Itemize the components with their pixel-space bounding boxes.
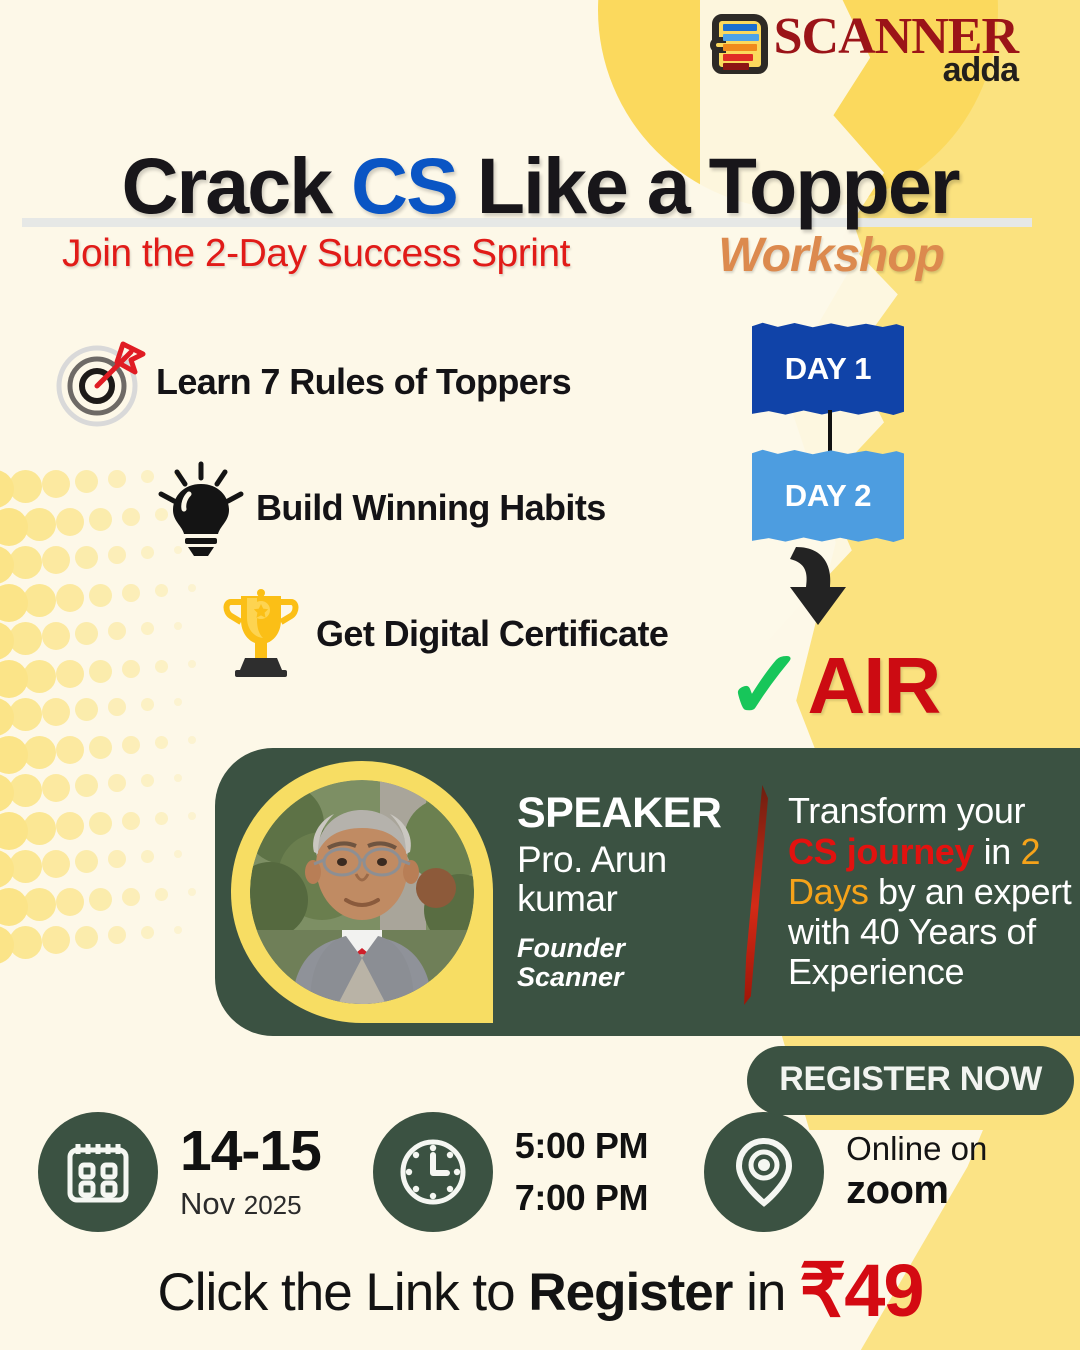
event-location: Online on zoom bbox=[846, 1131, 987, 1212]
green-check-icon: ✓ bbox=[725, 648, 805, 725]
cta-price: ₹49 bbox=[799, 1249, 922, 1332]
day-flow: DAY 1 DAY 2 bbox=[752, 328, 912, 634]
red-brush-divider bbox=[722, 777, 784, 1007]
pitch-text-2: in bbox=[974, 831, 1020, 872]
speaker-photo-frame bbox=[231, 761, 493, 1023]
page-title: Crack CS Like a Topper bbox=[0, 140, 1080, 232]
feature-item: Get Digital Certificate bbox=[206, 582, 736, 686]
cta-text-2: in bbox=[732, 1263, 799, 1322]
brand-logo: SCANNER adda bbox=[712, 14, 1018, 86]
day-1-badge: DAY 1 bbox=[752, 328, 904, 410]
feature-item: Learn 7 Rules of Toppers bbox=[46, 330, 736, 434]
clock-icon bbox=[373, 1112, 493, 1232]
feature-label: Build Winning Habits bbox=[256, 487, 606, 529]
speaker-name-line-2: kumar bbox=[517, 880, 722, 918]
event-date-month: Nov bbox=[180, 1186, 235, 1221]
feature-label: Learn 7 Rules of Toppers bbox=[156, 361, 571, 403]
subtitle: Join the 2-Day Success Sprint bbox=[62, 232, 570, 276]
event-date-year: 2025 bbox=[244, 1190, 302, 1220]
feature-list: Learn 7 Rules of Toppers Build Winning H… bbox=[46, 330, 736, 686]
event-info-row: 14-15 Nov 2025 5:00 PM 7:00 PM bbox=[38, 1112, 1058, 1232]
day-2-label: DAY 2 bbox=[785, 478, 871, 514]
cta-text-1: Click the Link to bbox=[157, 1263, 528, 1322]
workshop-label: Workshop bbox=[718, 228, 944, 283]
event-time-start: 5:00 PM bbox=[515, 1120, 648, 1172]
event-time-end: 7:00 PM bbox=[515, 1172, 648, 1224]
title-part-1: Crack bbox=[121, 141, 351, 230]
target-dart-icon bbox=[46, 334, 156, 430]
speaker-portrait bbox=[250, 780, 474, 1004]
feature-label: Get Digital Certificate bbox=[316, 613, 668, 655]
register-now-button[interactable]: REGISTER NOW bbox=[747, 1046, 1074, 1115]
title-highlight-cs: CS bbox=[351, 141, 457, 230]
speaker-info: SPEAKER Pro. Arun kumar Founder Scanner bbox=[517, 792, 722, 991]
feature-item: Build Winning Habits bbox=[146, 456, 736, 560]
speaker-pitch: Transform your CS journey in 2 Days by a… bbox=[788, 791, 1080, 993]
event-time: 5:00 PM 7:00 PM bbox=[515, 1120, 648, 1224]
cta-line[interactable]: Click the Link to Register in ₹49 bbox=[0, 1248, 1080, 1334]
speaker-heading: SPEAKER bbox=[517, 792, 722, 835]
speaker-role-line-1: Founder bbox=[517, 934, 722, 963]
curved-down-arrow-icon bbox=[760, 543, 912, 634]
speaker-card: SPEAKER Pro. Arun kumar Founder Scanner … bbox=[215, 748, 1080, 1036]
air-label: AIR bbox=[807, 640, 939, 732]
cta-register-word: Register bbox=[528, 1263, 732, 1322]
location-pin-icon bbox=[704, 1112, 824, 1232]
day-1-label: DAY 1 bbox=[785, 351, 871, 387]
speaker-name-line-1: Pro. Arun bbox=[517, 841, 722, 879]
pitch-text-1: Transform your bbox=[788, 790, 1025, 831]
event-date: 14-15 Nov 2025 bbox=[180, 1123, 321, 1222]
scanner-document-icon bbox=[712, 14, 768, 74]
air-result: ✓ AIR bbox=[725, 640, 939, 732]
speaker-role-line-2: Scanner bbox=[517, 963, 722, 992]
event-location-label: Online on bbox=[846, 1131, 987, 1167]
event-location-platform: zoom bbox=[846, 1168, 987, 1213]
pitch-highlight-cs-journey: CS journey bbox=[788, 831, 974, 872]
lightbulb-icon bbox=[146, 460, 256, 556]
trophy-icon bbox=[206, 586, 316, 682]
title-part-2: Like a Topper bbox=[457, 141, 959, 230]
event-date-days: 14-15 bbox=[180, 1123, 321, 1180]
day-2-badge: DAY 2 bbox=[752, 455, 904, 537]
calendar-icon bbox=[38, 1112, 158, 1232]
